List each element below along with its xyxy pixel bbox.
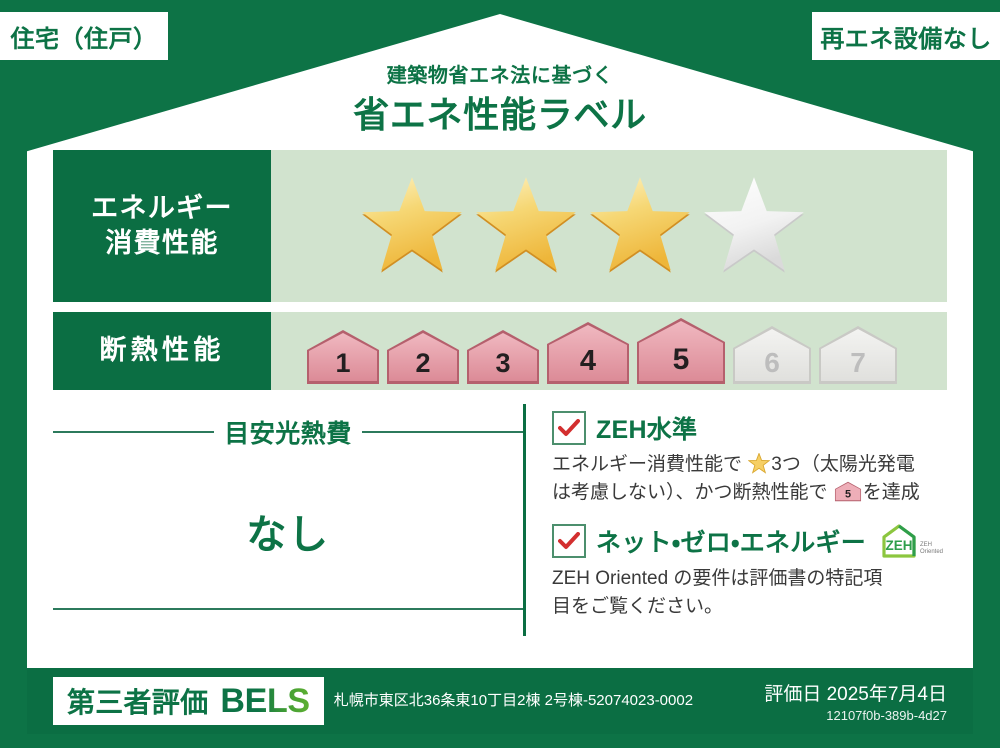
zeh-standard-title: ZEH水準 (596, 410, 697, 446)
svg-text:6: 6 (764, 347, 780, 378)
rule-left (53, 431, 214, 433)
utility-cost-value: なし (53, 502, 523, 560)
insulation-grade-scale: 1 2 3 4 (271, 316, 899, 386)
svg-text:Oriented: Oriented (920, 549, 943, 555)
insulation-house-5: 5 (635, 316, 727, 386)
evaluation-id: 12107f0b-389b-4d27 (764, 708, 947, 723)
energy-performance-label: エネルギー 消費性能 (53, 150, 271, 302)
footer-bar: 第三者評価 BELS 札幌市東区北36条東10丁目2棟 2号棟-52074023… (27, 668, 973, 734)
renewable-energy-tag: 再エネ設備なし (812, 12, 1000, 60)
evaluation-info: 評価日 2025年7月4日 12107f0b-389b-4d27 (764, 679, 947, 723)
evaluation-date: 評価日 2025年7月4日 (764, 679, 947, 706)
zeh-standard-block: ZEH水準 エネルギー消費性能で 3つ（太陽光発電 は考慮しない）、かつ断熱性能… (552, 410, 947, 506)
svg-text:7: 7 (850, 347, 866, 378)
star-icon-filled-1 (359, 175, 465, 277)
svg-text:5: 5 (673, 343, 690, 376)
net-zero-energy-title: ネット・ゼロ・エネルギー (596, 523, 866, 559)
bels-logo: 第三者評価 BELS (53, 677, 324, 725)
zeh-desc-part3: は考慮しない）、かつ断熱性能で (552, 482, 828, 503)
energy-label-line2: 消費性能 (105, 226, 218, 261)
utility-cost-header: 目安光熱費 (53, 404, 523, 450)
star-icon-inline (748, 453, 770, 474)
svg-text:ZEH: ZEH (920, 542, 932, 548)
energy-performance-value (271, 150, 947, 302)
zeh-desc-part2: 3つ（太陽光発電 (771, 454, 915, 475)
net-zero-energy-headline: ネット・ゼロ・エネルギー ZEH ZEH Oriented (552, 522, 947, 560)
utility-cost-bottom-rule (53, 608, 523, 610)
performance-section: エネルギー 消費性能 (53, 150, 947, 400)
bels-jp-text: 第三者評価 (67, 681, 208, 721)
insulation-house-6: 6 (731, 324, 813, 386)
property-address: 札幌市東区北36条東10丁目2棟 2号棟-52074023-0002 (334, 691, 714, 711)
utility-cost-section: 目安光熱費 なし (53, 404, 523, 636)
svg-text:2: 2 (415, 348, 430, 378)
svg-text:5: 5 (845, 488, 851, 500)
house-icon-inline-grade5: 5 (834, 481, 862, 502)
insulation-house-3: 3 (465, 328, 541, 386)
svg-text:3: 3 (495, 348, 510, 378)
bels-en-text: BELS (220, 682, 309, 721)
insulation-house-4: 4 (545, 320, 631, 386)
check-icon (558, 419, 580, 437)
zeh-desc-part4: を達成 (863, 482, 920, 503)
insulation-performance-row: 断熱性能 1 (53, 312, 947, 390)
insulation-house-7: 7 (817, 324, 899, 386)
net-zero-desc-line1: ZEH Oriented の要件は評価書の特記項 (552, 568, 882, 589)
zeh-standard-headline: ZEH水準 (552, 410, 947, 446)
rule-right (362, 431, 523, 433)
zeh-oriented-logo: ZEH ZEH Oriented (880, 522, 946, 560)
svg-text:1: 1 (335, 348, 350, 378)
star-rating (271, 175, 807, 277)
energy-performance-label: 住宅（住戸） 再エネ設備なし 建築物省エネ法に基づく 省エネ性能ラベル エネルギ… (0, 0, 1000, 748)
check-icon (558, 532, 580, 550)
utility-cost-title: 目安光熱費 (224, 414, 352, 450)
zeh-standard-description: エネルギー消費性能で 3つ（太陽光発電 は考慮しない）、かつ断熱性能で 5 を達… (552, 451, 947, 506)
insulation-performance-label: 断熱性能 (53, 312, 271, 390)
building-type-tag: 住宅（住戸） (0, 12, 168, 60)
energy-label-line1: エネルギー (91, 191, 233, 226)
zeh-desc-part1: エネルギー消費性能で (552, 454, 742, 475)
insulation-house-1: 1 (305, 328, 381, 386)
svg-text:4: 4 (580, 345, 596, 377)
star-icon-empty-4 (701, 175, 807, 277)
lower-section: 目安光熱費 なし ZEH水準 エネルギー消費性能で (53, 404, 947, 636)
net-zero-energy-description: ZEH Oriented の要件は評価書の特記項 目をご覧ください。 (552, 565, 947, 620)
star-icon-filled-2 (473, 175, 579, 277)
net-zero-desc-line2: 目をご覧ください。 (552, 596, 723, 617)
insulation-house-2: 2 (385, 328, 461, 386)
net-zero-energy-block: ネット・ゼロ・エネルギー ZEH ZEH Oriented ZEH Orient… (552, 522, 947, 620)
insulation-performance-value: 1 2 3 4 (271, 312, 947, 390)
svg-text:ZEH: ZEH (886, 538, 913, 553)
checkbox-checked-zeh-standard[interactable] (552, 411, 586, 445)
checkbox-checked-net-zero[interactable] (552, 524, 586, 558)
star-icon-filled-3 (587, 175, 693, 277)
zeh-section: ZEH水準 エネルギー消費性能で 3つ（太陽光発電 は考慮しない）、かつ断熱性能… (523, 404, 947, 636)
energy-performance-row: エネルギー 消費性能 (53, 150, 947, 302)
